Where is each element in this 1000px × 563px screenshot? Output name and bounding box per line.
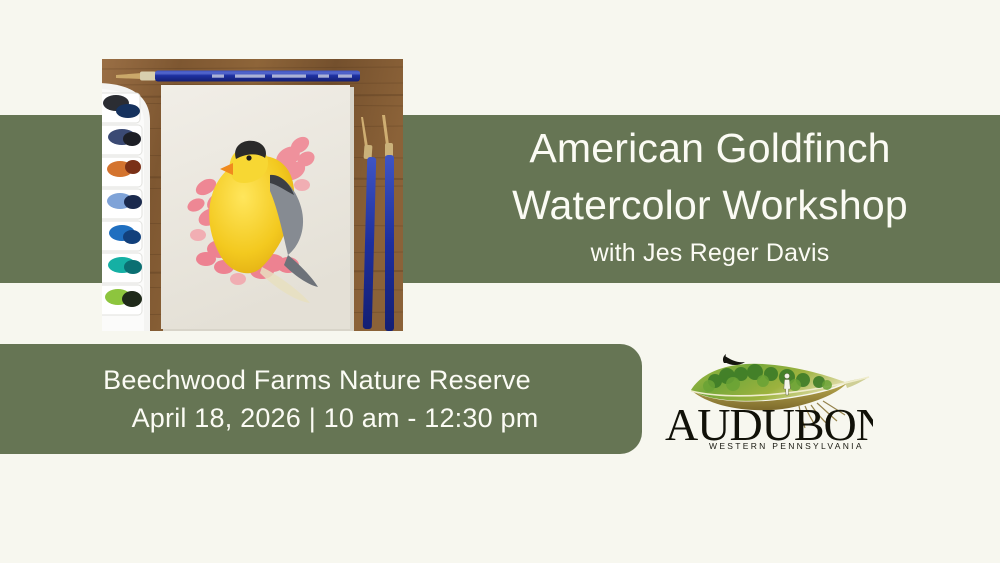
- audubon-logo-graphic: AUDUBON WESTERN PENNSYLVANIA: [663, 348, 873, 456]
- bird-eye: [246, 155, 251, 160]
- audubon-logo: AUDUBON WESTERN PENNSYLVANIA: [663, 348, 873, 456]
- workshop-photo-illustration: [102, 59, 403, 331]
- paintbrush-top: [116, 71, 360, 82]
- audubon-chapter-name: WESTERN PENNSYLVANIA: [709, 441, 864, 451]
- event-details-banner: Beechwood Farms Nature Reserve April 18,…: [0, 344, 642, 454]
- instructor-subtitle: with Jes Reger Davis: [440, 234, 980, 272]
- title-block: American Goldfinch Watercolor Workshop w…: [440, 120, 980, 280]
- workshop-photo: [102, 59, 403, 331]
- title-line-2: Watercolor Workshop: [440, 177, 980, 234]
- flying-bird-icon: [723, 354, 745, 365]
- paint-palette: [102, 83, 150, 331]
- event-poster: American Goldfinch Watercolor Workshop w…: [0, 0, 1000, 563]
- event-date-time: April 18, 2026 | 10 am - 12:30 pm: [80, 399, 539, 437]
- title-line-1: American Goldfinch: [440, 120, 980, 177]
- venue-name: Beechwood Farms Nature Reserve: [87, 361, 531, 399]
